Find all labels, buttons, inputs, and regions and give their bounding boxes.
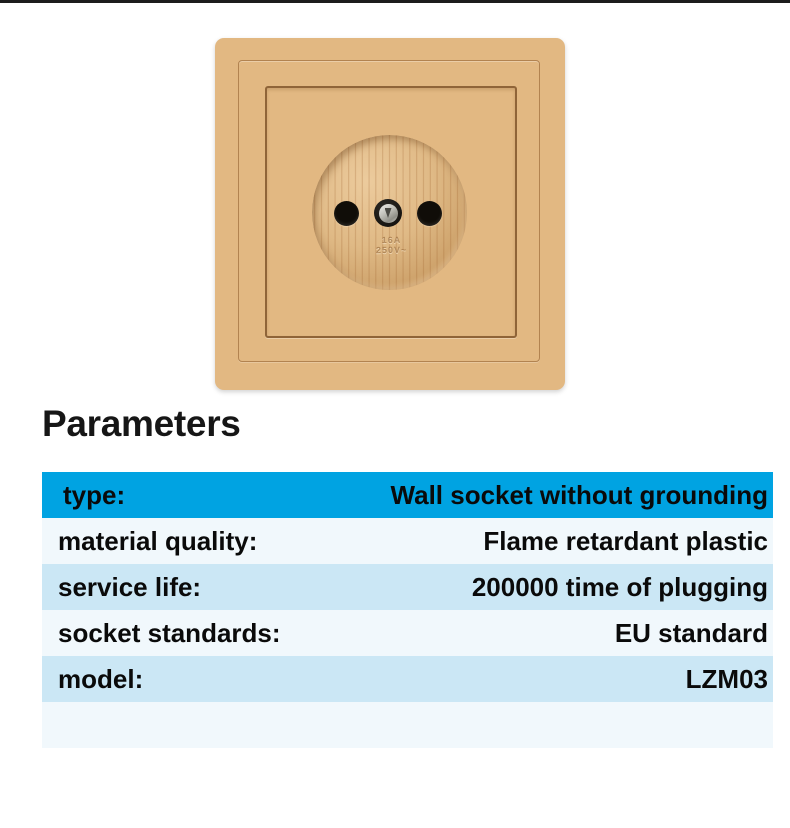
socket-pin-hole-right bbox=[417, 201, 442, 226]
parameter-label: type: bbox=[42, 472, 363, 518]
parameters-heading: Parameters bbox=[42, 405, 241, 442]
parameter-value: Wall socket without grounding bbox=[363, 472, 773, 518]
parameter-label: socket standards: bbox=[42, 610, 363, 656]
socket-recessed-well: 16A 250V~ bbox=[312, 135, 467, 290]
product-image-area: 16A 250V~ bbox=[0, 3, 790, 400]
socket-pin-hole-left bbox=[334, 201, 359, 226]
table-row: type:Wall socket without grounding bbox=[42, 472, 773, 518]
table-row: material quality:Flame retardant plastic bbox=[42, 518, 773, 564]
parameters-table: type:Wall socket without groundingmateri… bbox=[42, 472, 773, 748]
table-row: socket standards:EU standard bbox=[42, 610, 773, 656]
parameter-label: model: bbox=[42, 656, 363, 702]
parameter-label bbox=[42, 702, 363, 748]
socket-center-screw-icon bbox=[374, 199, 402, 227]
socket-marking-line-2: 250V~ bbox=[334, 244, 449, 256]
parameter-label: material quality: bbox=[42, 518, 363, 564]
table-row: service life:200000 time of plugging bbox=[42, 564, 773, 610]
table-row-empty bbox=[42, 702, 773, 748]
parameter-label: service life: bbox=[42, 564, 363, 610]
table-row: model:LZM03 bbox=[42, 656, 773, 702]
parameter-value: Flame retardant plastic bbox=[363, 518, 773, 564]
parameter-value: LZM03 bbox=[363, 656, 773, 702]
socket-molded-marking: 16A 250V~ bbox=[334, 234, 449, 257]
parameter-value bbox=[363, 702, 773, 748]
parameter-value: EU standard bbox=[363, 610, 773, 656]
wall-socket-product-image: 16A 250V~ bbox=[215, 38, 565, 390]
parameters-table-body: type:Wall socket without groundingmateri… bbox=[42, 472, 773, 748]
parameter-value: 200000 time of plugging bbox=[363, 564, 773, 610]
